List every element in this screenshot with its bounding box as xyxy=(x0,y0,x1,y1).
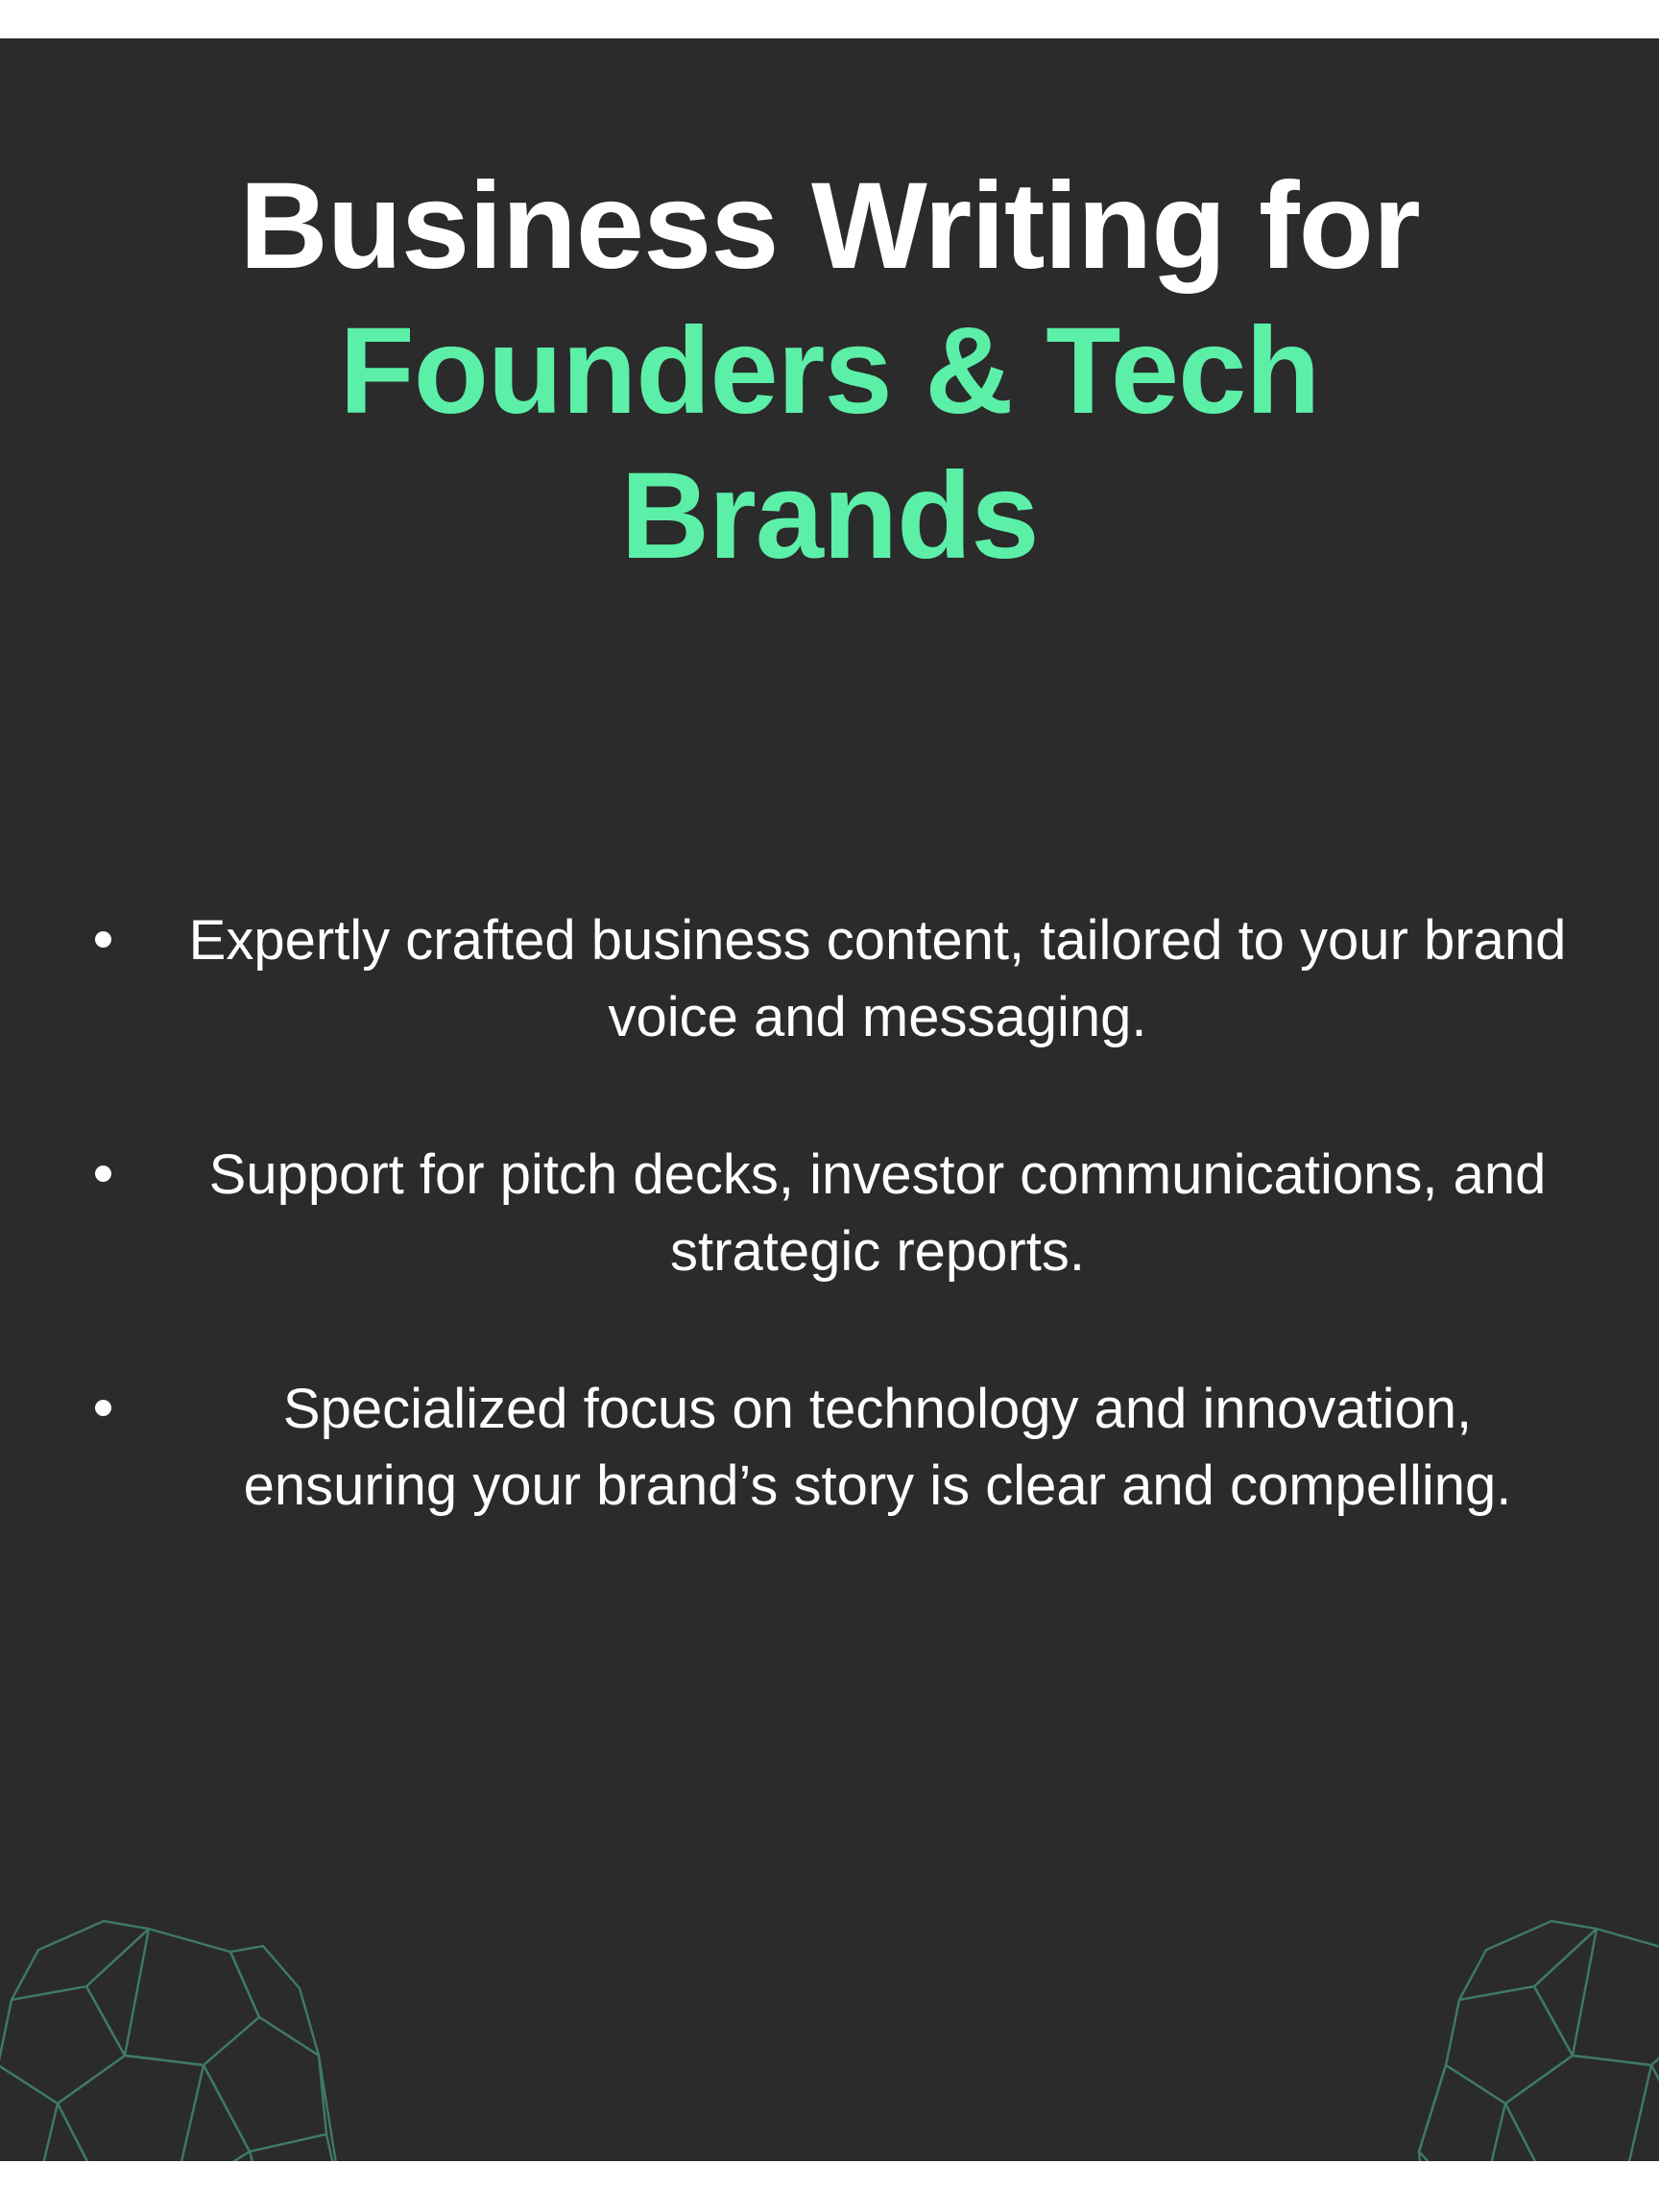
list-item-label: Expertly crafted business content, tailo… xyxy=(187,902,1568,1056)
list-item: Specialized focus on technology and inno… xyxy=(82,1371,1577,1525)
list-item-label: Support for pitch decks, investor commun… xyxy=(187,1137,1568,1290)
poster-page: Business Writing for Founders & Tech Bra… xyxy=(0,0,1659,2212)
bullet-dot-icon xyxy=(95,1400,111,1416)
bullet-dot-icon xyxy=(95,1166,111,1182)
poster-title-block: Business Writing for Founders & Tech Bra… xyxy=(0,38,1659,589)
list-item: Support for pitch decks, investor commun… xyxy=(82,1137,1577,1290)
poster-canvas: Business Writing for Founders & Tech Bra… xyxy=(0,38,1659,2161)
page-title-line-2: Founders & Tech xyxy=(0,299,1659,444)
bullet-dot-icon xyxy=(95,931,111,948)
list-item-label: Specialized focus on technology and inno… xyxy=(187,1371,1568,1525)
page-title-line-3: Brands xyxy=(0,444,1659,589)
feature-bullet-list: Expertly crafted business content, tailo… xyxy=(0,902,1659,1525)
list-item: Expertly crafted business content, tailo… xyxy=(82,902,1577,1056)
low-poly-sphere-left-icon xyxy=(0,1911,355,2161)
low-poly-sphere-right-icon xyxy=(1390,1911,1659,2161)
page-title-line-1: Business Writing for xyxy=(0,154,1659,299)
